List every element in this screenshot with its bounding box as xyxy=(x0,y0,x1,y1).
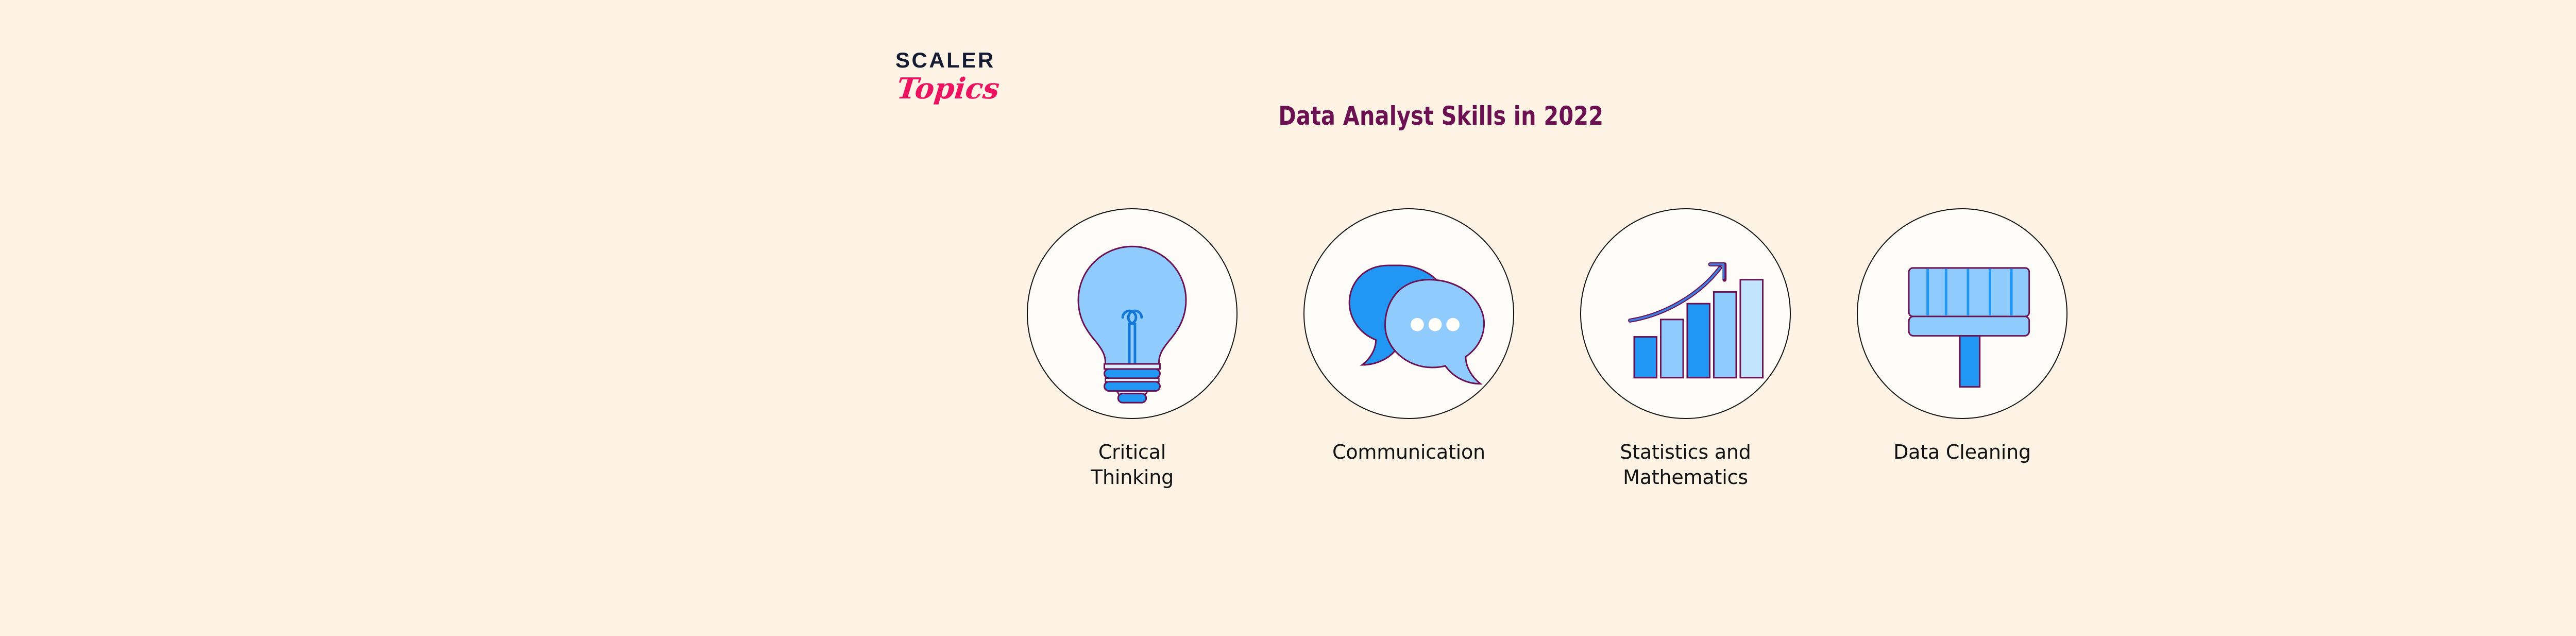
skill-icon-container xyxy=(1580,208,1791,419)
skill-icon-container xyxy=(1027,208,1238,419)
brand-script-wordmark: Topics xyxy=(895,74,1050,103)
skill-card-statistics-and-mathematics[interactable]: Statistics and Mathematics xyxy=(1580,208,1791,490)
chart-bar xyxy=(1634,337,1657,378)
lightbulb-icon xyxy=(1028,208,1236,419)
page-title-text: Data Analyst Skills in 2022 xyxy=(1279,101,1604,131)
skill-label: Data Cleaning xyxy=(1893,440,2031,465)
chart-bar xyxy=(1687,304,1710,378)
page-title: Data Analyst Skills in 2022 xyxy=(0,101,2576,131)
skill-label: Communication xyxy=(1332,440,1485,465)
bar-chart-growth-icon xyxy=(1581,208,1790,419)
brand-wordmark: SCALER xyxy=(895,49,1050,71)
skill-icon-container xyxy=(1303,208,1514,419)
skill-label: Critical Thinking xyxy=(1055,440,1210,490)
speech-bubbles-icon xyxy=(1304,208,1513,419)
skill-card-data-cleaning[interactable]: Data Cleaning xyxy=(1857,208,2067,465)
skill-card-critical-thinking[interactable]: Critical Thinking xyxy=(1027,208,1238,490)
cleaning-brush-icon xyxy=(1858,208,2066,419)
chart-bar xyxy=(1714,292,1736,377)
chart-bar xyxy=(1740,280,1763,378)
skills-list: Critical Thinking Communication xyxy=(1027,208,2067,490)
skill-icon-container xyxy=(1857,208,2067,419)
chart-bar xyxy=(1660,320,1683,378)
skill-label: Statistics and Mathematics xyxy=(1580,440,1791,490)
skill-card-communication[interactable]: Communication xyxy=(1303,208,1514,465)
